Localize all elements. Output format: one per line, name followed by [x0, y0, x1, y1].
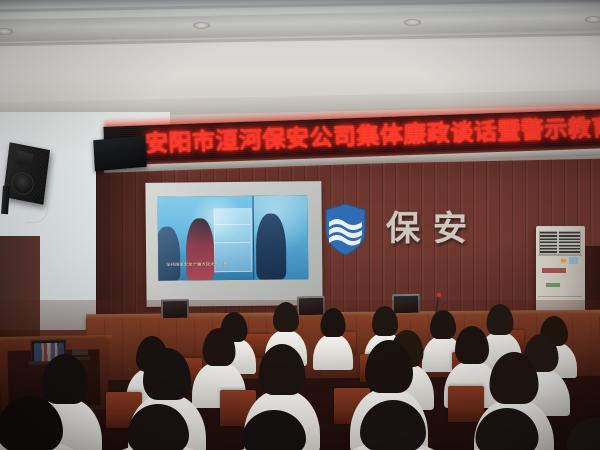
audience-member: [108, 404, 208, 450]
audience-member: [456, 408, 558, 450]
video-subtitle: 坚持国家安全产量大拔夫的「核: [166, 262, 250, 269]
desk-microphone: [437, 293, 441, 297]
projection-screen: 坚持国家安全产量大拔夫的「核: [145, 181, 322, 307]
ac-grille-divider: [557, 231, 559, 253]
security-shield-icon: [325, 203, 366, 256]
ceiling-downlight-4: [585, 16, 600, 23]
ac-label-red: [542, 268, 566, 273]
ac-grille: [539, 231, 581, 255]
audience-member: [340, 400, 446, 450]
video-figure-2: [186, 218, 215, 280]
audience-member: [0, 396, 82, 450]
audience-area: [0, 300, 600, 450]
company-name-text: 保安: [386, 209, 480, 249]
ceiling-downlight-2: [193, 22, 210, 29]
wall-tv: [93, 136, 146, 171]
ceiling-downlight-3: [404, 19, 421, 26]
conference-hall-photo: 安阳市洹河保安公司集体廉政谈话暨警示教育大会 坚持国家安全产量大拔夫的「核: [0, 0, 600, 450]
ac-label-green: [546, 283, 560, 287]
ac-badge: [569, 257, 578, 264]
wall-speaker: [3, 142, 50, 204]
audience-member: [548, 418, 600, 450]
ac-power-indicator: [561, 259, 566, 262]
projected-video: 坚持国家安全产量大拔夫的「核: [158, 195, 309, 281]
video-figure-3: [256, 213, 287, 279]
audience-member: [222, 410, 326, 450]
